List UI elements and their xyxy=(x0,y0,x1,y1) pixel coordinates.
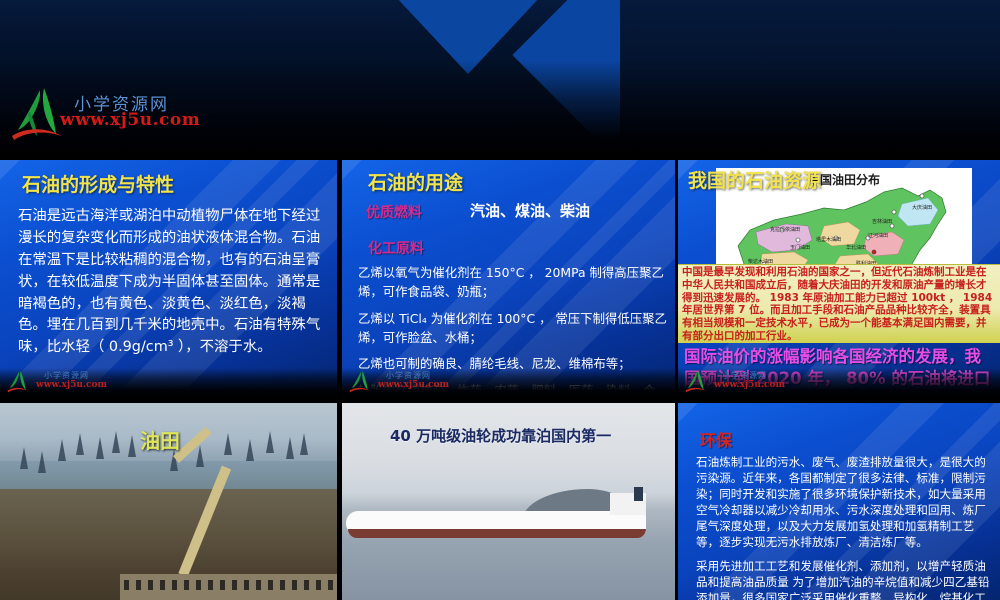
environment-paragraph: 石油炼制工业的污水、废气、废渣排放量很大，是很大的污染源。近年来，各国都制定了很… xyxy=(696,455,990,551)
uses-paragraph: 乙烯以 TiCl₄ 为催化剂在 100°C ， 常压下制得低压聚乙烯，可作脸盆、… xyxy=(358,310,667,348)
map-label: 玉门油田 xyxy=(790,244,810,251)
panel-title-oilfields: 我国的石油资源 xyxy=(688,166,821,193)
map-label: 克拉玛依油田 xyxy=(770,226,800,233)
map-label: 辽河油田 xyxy=(868,232,888,239)
photo-water xyxy=(0,461,337,491)
panel-tanker-photo[interactable]: 40 万吨级油轮成功靠泊国内第一 xyxy=(342,403,675,600)
environment-paragraph: 采用先进加工工艺和发展催化剂、添加剂，以增产轻质油品和提高油品质量 为了增加汽油… xyxy=(696,559,990,600)
panel-environment[interactable]: 环保 石油炼制工业的污水、废气、废渣排放量很大，是很大的污染源。近年来，各国都制… xyxy=(678,403,1000,600)
oilfield-photo-caption: 油田 xyxy=(140,425,180,454)
panel-body-environment: 石油炼制工业的污水、废气、废渣排放量很大，是很大的污染源。近年来，各国都制定了很… xyxy=(696,455,990,600)
panel-oilfields[interactable]: 我国的石油资源 中国油田分布 xyxy=(678,160,1000,398)
watermark: 小学资源网 www.xj5u.com xyxy=(682,370,832,396)
logo-url-text: www.xj5u.com xyxy=(60,110,200,130)
watermark: 小学资源网 www.xj5u.com xyxy=(4,370,154,396)
oilfields-yellow-text: 中国是最早发现和利用石油的国家之一，但近代石油炼制工业是在中华人民共和国成立后，… xyxy=(678,265,1000,344)
watermark: 小学资源网 www.xj5u.com xyxy=(346,370,496,396)
watermark-url: www.xj5u.com xyxy=(714,380,785,390)
oilfields-yellow-textbox: 中国是最早发现和利用石油的国家之一，但近代石油炼制工业是在中华人民共和国成立后，… xyxy=(678,264,1000,343)
panel-formation[interactable]: 石油的形成与特性 石油是远古海洋或湖泊中动植物尸体在地下经过漫长的复杂变化而形成… xyxy=(0,160,337,398)
photo-building xyxy=(120,574,337,600)
label-chemical-feedstock: 化工原料 xyxy=(368,238,424,258)
leaf-logo-icon xyxy=(682,370,712,394)
value-premium-fuel: 汽油、煤油、柴油 xyxy=(470,200,590,221)
map-label: 塔里木油田 xyxy=(816,236,841,243)
tanker-photo-caption: 40 万吨级油轮成功靠泊国内第一 xyxy=(390,425,611,446)
leaf-logo-icon xyxy=(4,370,34,394)
panel-uses[interactable]: 石油的用途 优质燃料 汽油、煤油、柴油 化工原料 乙烯以氧气为催化剂在 150°… xyxy=(342,160,675,398)
label-premium-fuel: 优质燃料 xyxy=(366,202,422,222)
uses-paragraph: 乙烯以氧气为催化剂在 150°C ， 20MPa 制得高压聚乙烯，可作食品袋、奶… xyxy=(358,264,667,302)
panel-oilfield-photo[interactable]: 油田 xyxy=(0,403,337,600)
tanker-photo: 40 万吨级油轮成功靠泊国内第一 xyxy=(342,403,675,600)
panel-title-formation: 石油的形成与特性 xyxy=(22,170,174,197)
photo-ship-waterline xyxy=(348,529,646,538)
site-logo: 小学资源网 www.xj5u.com xyxy=(10,86,240,148)
top-banner: 小学资源网 www.xj5u.com xyxy=(0,0,1000,158)
photo-ship-funnel xyxy=(634,487,643,501)
leaf-logo-icon xyxy=(346,370,376,394)
watermark-url: www.xj5u.com xyxy=(378,380,449,390)
watermark-url: www.xj5u.com xyxy=(36,380,107,390)
panel-title-uses: 石油的用途 xyxy=(368,168,463,195)
map-label: 华北油田 xyxy=(846,244,866,251)
panel-title-environment: 环保 xyxy=(700,427,732,451)
map-label: 吉林油田 xyxy=(872,218,892,225)
panel-body-formation: 石油是远古海洋或湖泊中动植物尸体在地下经过漫长的复杂变化而形成的油状液体混合物。… xyxy=(18,206,325,359)
oilfield-photo: 油田 xyxy=(0,403,337,600)
slide-canvas: 小学资源网 www.xj5u.com 石油的形成与特性 石油是远古海洋或湖泊中动… xyxy=(0,0,1000,600)
map-label: 大庆油田 xyxy=(912,204,932,211)
